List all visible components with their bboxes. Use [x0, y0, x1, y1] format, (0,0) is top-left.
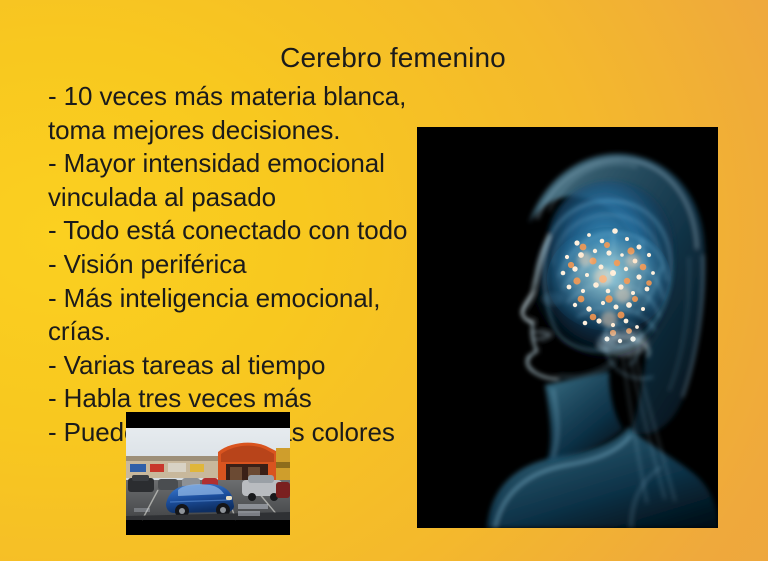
page-title: Cerebro femenino [0, 41, 768, 75]
list-item: - Varias tareas al tiempo [48, 349, 420, 383]
list-item: - Habla tres veces más [48, 382, 420, 416]
list-item: - Mayor intensidad emocional [48, 147, 420, 181]
presentation-slide: Cerebro femenino - 10 veces más materia … [0, 0, 768, 561]
list-item: - 10 veces más materia blanca, [48, 80, 420, 114]
list-item: - Todo está conectado con todo [48, 214, 420, 248]
parking-lot-dashcam-photo [126, 412, 290, 535]
list-item: crías. [48, 315, 420, 349]
list-item: vinculada al pasado [48, 181, 420, 215]
list-item: - Visión periférica [48, 248, 420, 282]
female-brain-xray-image [417, 127, 718, 528]
list-item: - Más inteligencia emocional, [48, 282, 420, 316]
bullet-list: - 10 veces más materia blanca, toma mejo… [48, 80, 420, 450]
list-item: toma mejores decisiones. [48, 114, 420, 148]
